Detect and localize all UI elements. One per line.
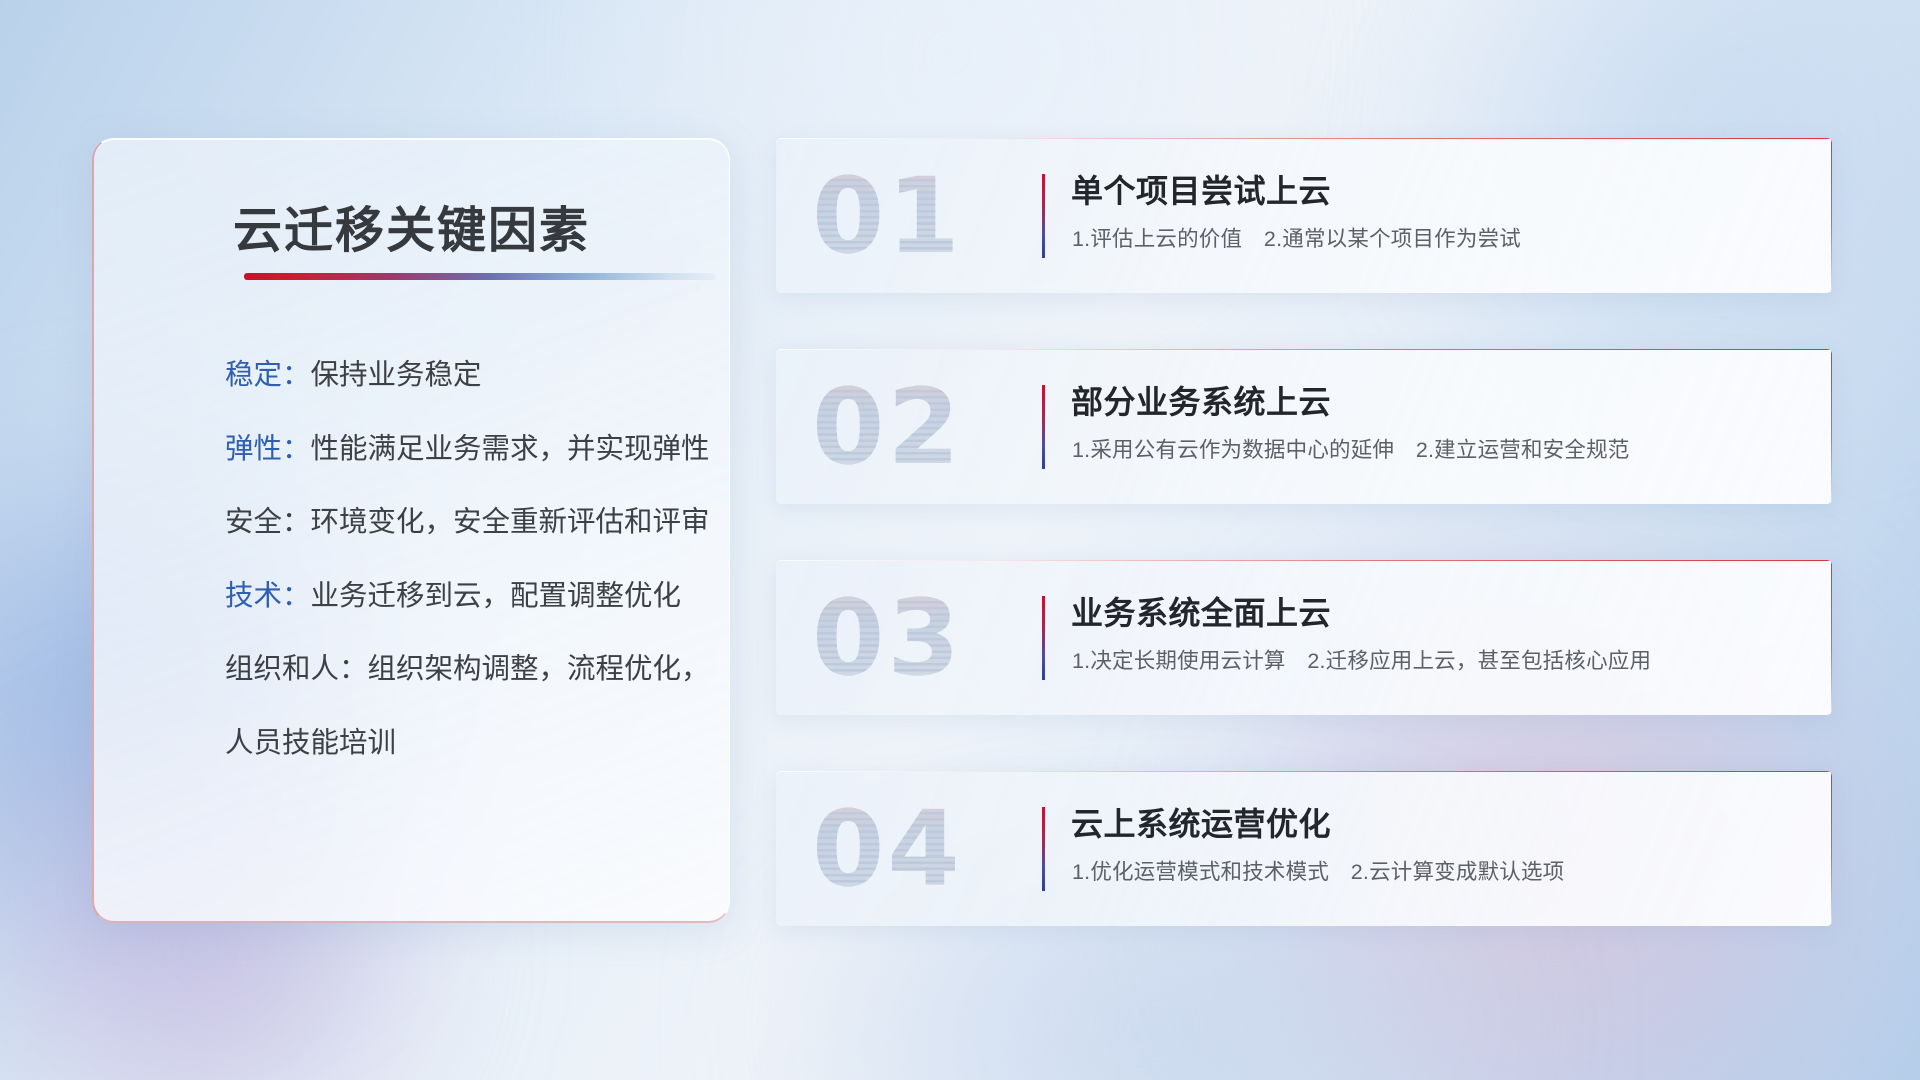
key-factor-line: 技术：业务迁移到云，配置调整优化 <box>225 582 703 611</box>
key-factor-label: 稳定： <box>225 359 311 391</box>
key-factors-list: 稳定：保持业务稳定弹性：性能满足业务需求，并实现弹性安全：环境变化，安全重新评估… <box>225 361 703 757</box>
stage-title: 部分业务系统上云 <box>1071 377 1331 423</box>
vertical-divider-accent <box>1042 596 1045 680</box>
key-factor-value: 业务迁移到云，配置调整优化 <box>311 580 682 612</box>
key-factor-value: 环境变化，安全重新评估和评审 <box>311 506 710 538</box>
key-factor-line: 稳定：保持业务稳定 <box>225 361 703 390</box>
stage-description: 1.评估上云的价值 2.通常以某个项目作为尝试 <box>1072 222 1521 253</box>
stage-card[interactable]: 01单个项目尝试上云1.评估上云的价值 2.通常以某个项目作为尝试 <box>776 138 1832 293</box>
stage-title: 单个项目尝试上云 <box>1071 166 1331 212</box>
stage-title: 云上系统运营优化 <box>1071 799 1331 845</box>
stage-description: 1.决定长期使用云计算 2.迁移应用上云，甚至包括核心应用 <box>1072 644 1651 675</box>
stage-card[interactable]: 04云上系统运营优化1.优化运营模式和技术模式 2.云计算变成默认选项 <box>776 771 1832 926</box>
key-factor-value: 组织架构调整，流程优化， <box>368 653 710 685</box>
stage-number-watermark: 02 <box>812 365 1012 489</box>
key-factor-label: 安全： <box>225 506 311 538</box>
key-factor-value: 人员技能培训 <box>225 727 396 759</box>
stage-description: 1.采用公有云作为数据中心的延伸 2.建立运营和安全规范 <box>1072 433 1629 464</box>
stage-description: 1.优化运营模式和技术模式 2.云计算变成默认选项 <box>1072 855 1564 886</box>
key-factor-label: 技术： <box>225 580 311 612</box>
stage-number-watermark: 04 <box>812 787 1012 911</box>
vertical-divider-accent <box>1042 385 1045 469</box>
key-factors-panel: 云迁移关键因素 稳定：保持业务稳定弹性：性能满足业务需求，并实现弹性安全：环境变… <box>92 138 730 923</box>
title-underline-accent <box>244 273 716 280</box>
key-factor-label: 弹性： <box>225 433 311 465</box>
key-factor-value: 保持业务稳定 <box>311 359 482 391</box>
key-factor-label: 组织和人： <box>225 653 368 685</box>
key-factor-line: 人员技能培训 <box>225 729 703 758</box>
page-title: 云迁移关键因素 <box>94 191 729 262</box>
key-factor-line: 弹性：性能满足业务需求，并实现弹性 <box>225 435 703 464</box>
key-factor-value: 性能满足业务需求，并实现弹性 <box>311 433 710 465</box>
vertical-divider-accent <box>1042 174 1045 258</box>
vertical-divider-accent <box>1042 807 1045 891</box>
key-factor-line: 安全：环境变化，安全重新评估和评审 <box>225 508 703 537</box>
key-factor-line: 组织和人：组织架构调整，流程优化， <box>225 655 703 684</box>
stage-number-watermark: 01 <box>812 154 1012 278</box>
stages-card-list: 01单个项目尝试上云1.评估上云的价值 2.通常以某个项目作为尝试02部分业务系… <box>776 138 1832 926</box>
stage-number-watermark: 03 <box>812 576 1012 700</box>
stage-card[interactable]: 03业务系统全面上云1.决定长期使用云计算 2.迁移应用上云，甚至包括核心应用 <box>776 560 1832 715</box>
stage-card[interactable]: 02部分业务系统上云1.采用公有云作为数据中心的延伸 2.建立运营和安全规范 <box>776 349 1832 504</box>
stage-title: 业务系统全面上云 <box>1071 588 1331 634</box>
